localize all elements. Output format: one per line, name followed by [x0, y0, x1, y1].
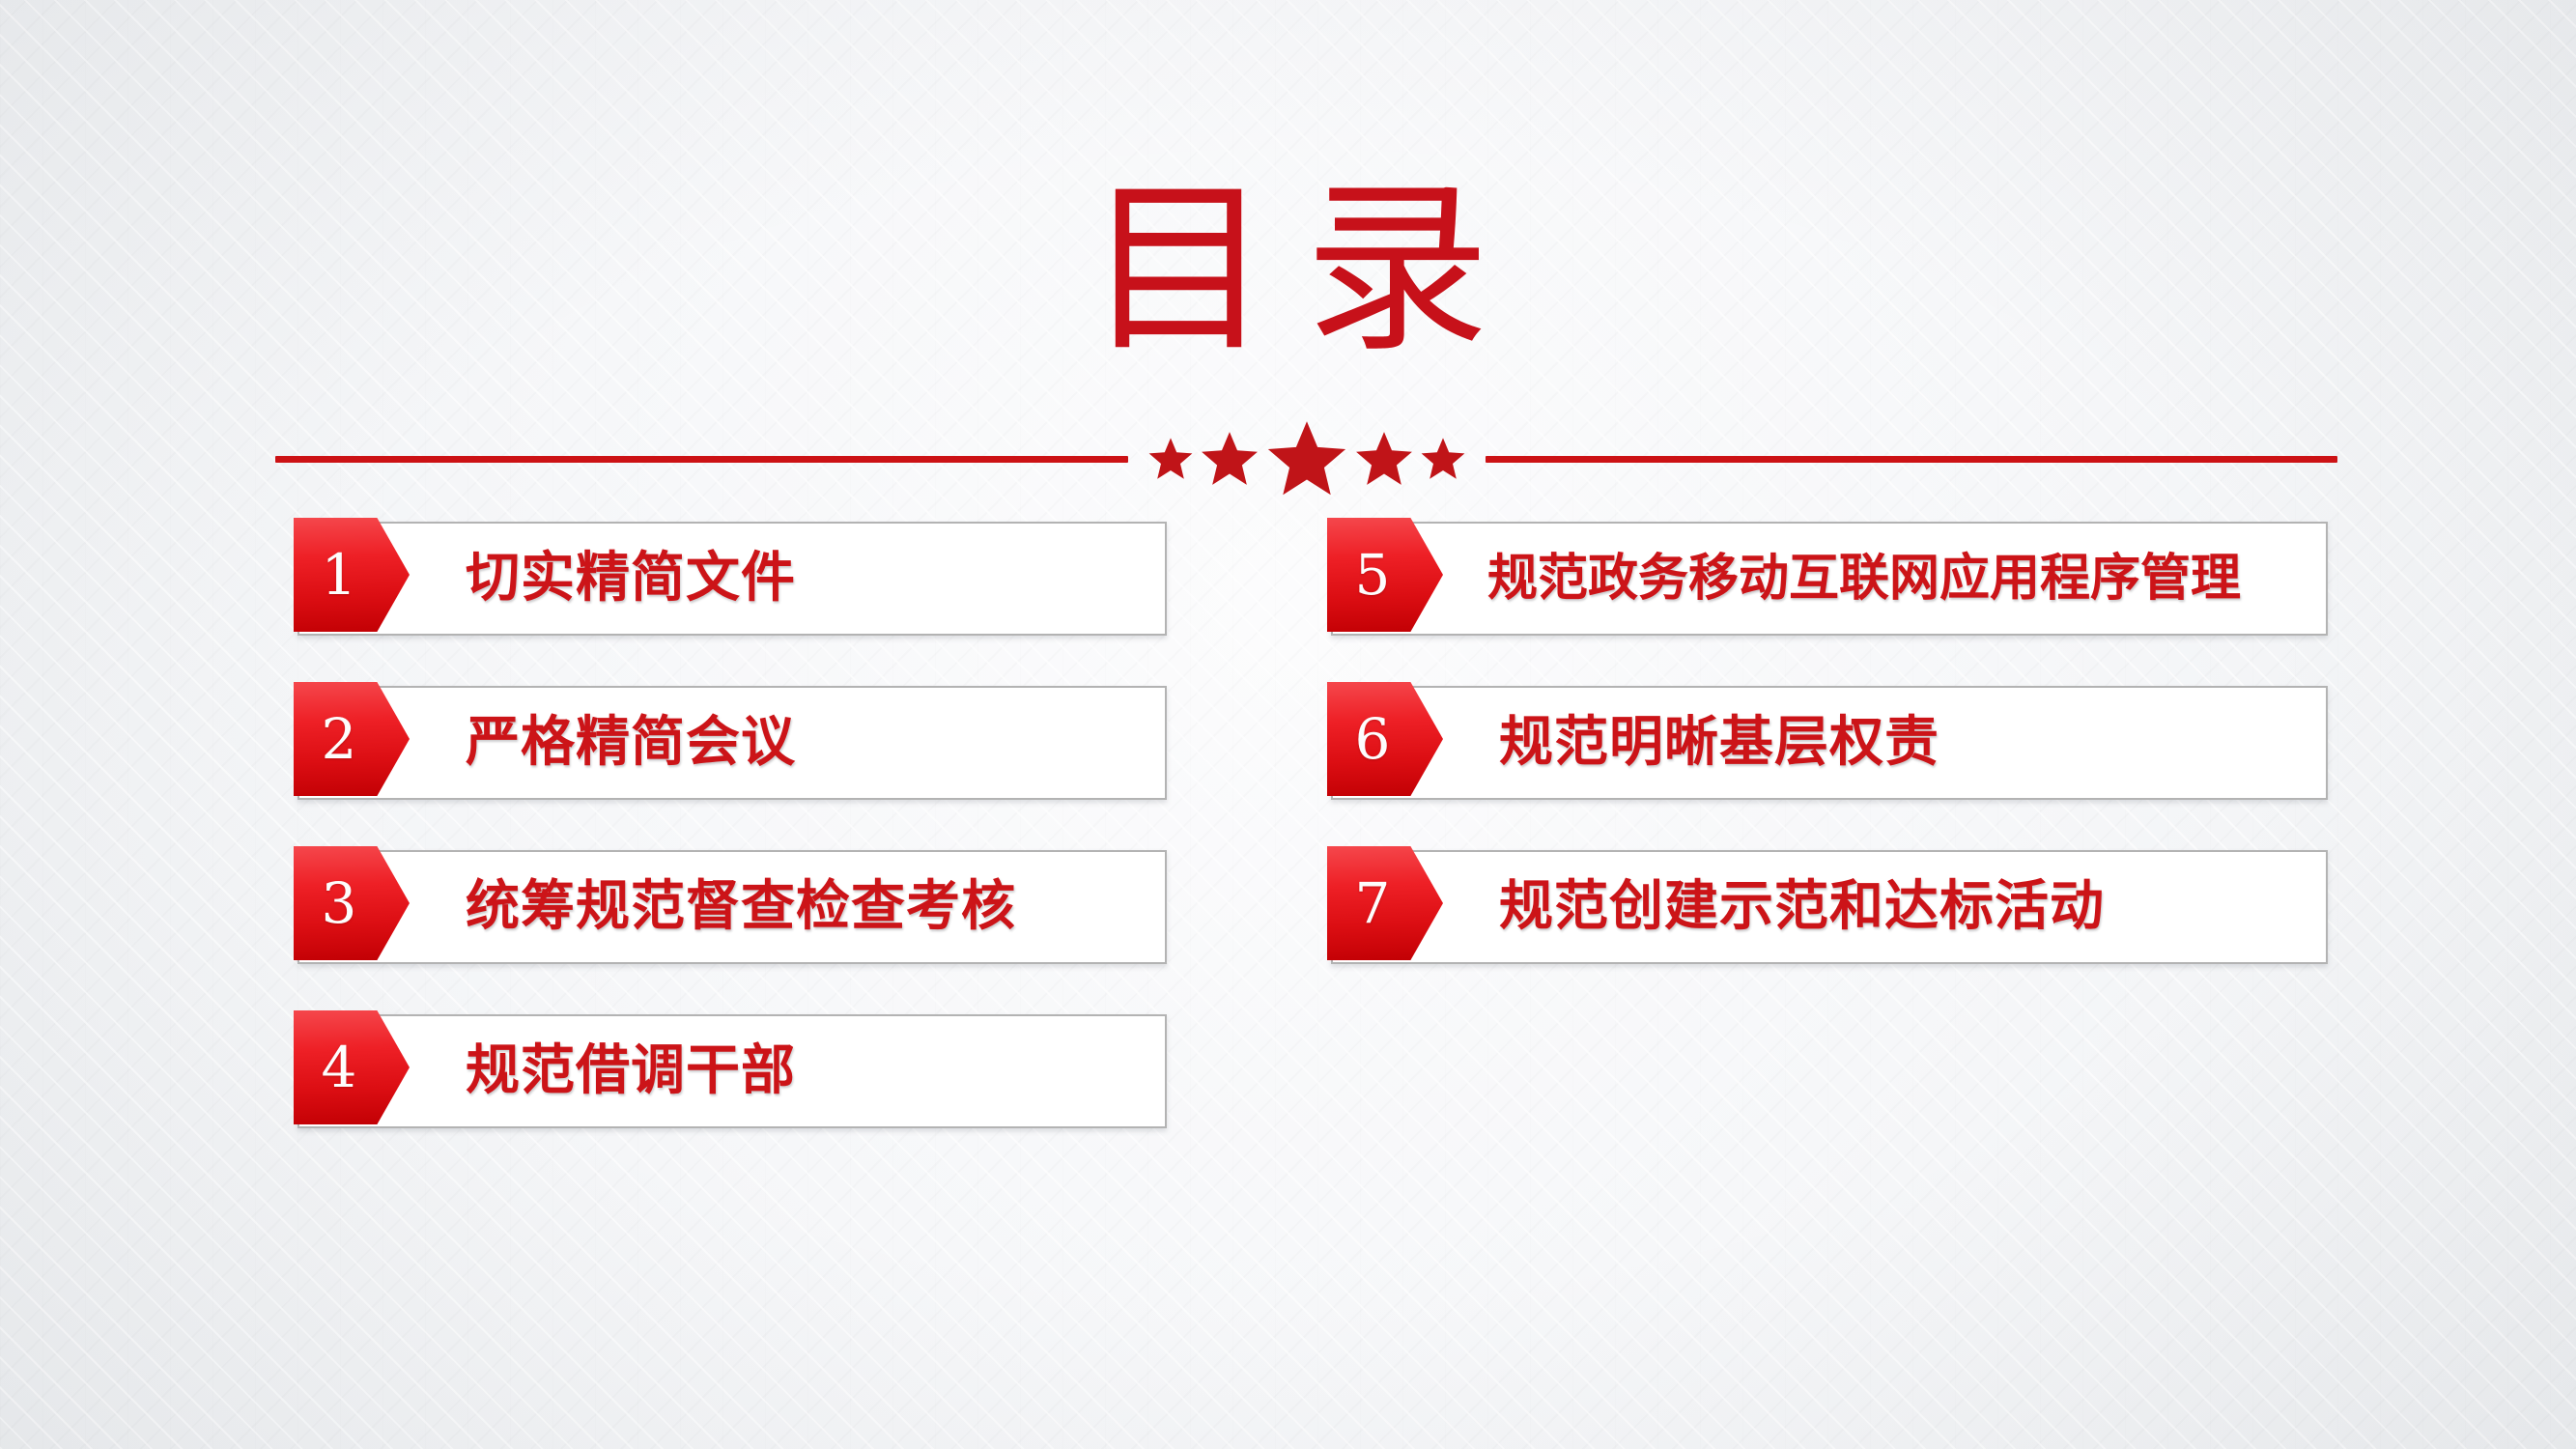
toc-number: 7: [1355, 875, 1391, 931]
toc-item-6[interactable]: 6 规范明晰基层权责: [1331, 686, 2328, 800]
toc-item-3[interactable]: 3 统筹规范督查检查考核: [297, 850, 1167, 964]
toc-number: 4: [322, 1039, 357, 1095]
divider-rule-left: [275, 456, 1128, 463]
toc-item-1[interactable]: 1 切实精简文件: [297, 522, 1167, 636]
toc-slide: 目录: [0, 0, 2576, 1449]
toc-number: 6: [1355, 711, 1391, 767]
star-icon-1: [1147, 436, 1194, 482]
divider-rule-right: [1486, 456, 2338, 463]
star-icon-2: [1200, 429, 1260, 489]
toc-number: 5: [1355, 547, 1391, 603]
toc-item-label: 统筹规范督查检查考核: [410, 850, 1167, 964]
toc-item-7[interactable]: 7 规范创建示范和达标活动: [1331, 850, 2328, 964]
star-group: [1128, 415, 1486, 502]
toc-item-label: 切实精简文件: [410, 522, 1167, 636]
star-icon-4: [1354, 429, 1414, 489]
toc-item-label: 规范借调干部: [410, 1014, 1167, 1128]
toc-item-label: 严格精简会议: [410, 686, 1167, 800]
toc-column-right: 5 规范政务移动互联网应用程序管理 6 规范明晰基层权责 7 规范创建示范和达标…: [1331, 522, 2328, 1014]
toc-number: 1: [322, 547, 357, 603]
toc-number: 3: [322, 875, 357, 931]
toc-column-left: 1 切实精简文件 2 严格精简会议 3 统筹规范督查检查考核: [297, 522, 1167, 1179]
toc-item-label: 规范政务移动互联网应用程序管理: [1443, 522, 2328, 636]
toc-number: 2: [322, 711, 357, 767]
star-icon-5: [1420, 436, 1466, 482]
toc-item-2[interactable]: 2 严格精简会议: [297, 686, 1167, 800]
toc-item-label: 规范创建示范和达标活动: [1443, 850, 2328, 964]
divider: [275, 415, 2337, 502]
page-title: 目录: [0, 174, 2576, 367]
toc-item-5[interactable]: 5 规范政务移动互联网应用程序管理: [1331, 522, 2328, 636]
toc-columns: 1 切实精简文件 2 严格精简会议 3 统筹规范督查检查考核: [0, 522, 2576, 1140]
star-icon-3: [1265, 417, 1348, 500]
toc-item-4[interactable]: 4 规范借调干部: [297, 1014, 1167, 1128]
toc-item-label: 规范明晰基层权责: [1443, 686, 2328, 800]
